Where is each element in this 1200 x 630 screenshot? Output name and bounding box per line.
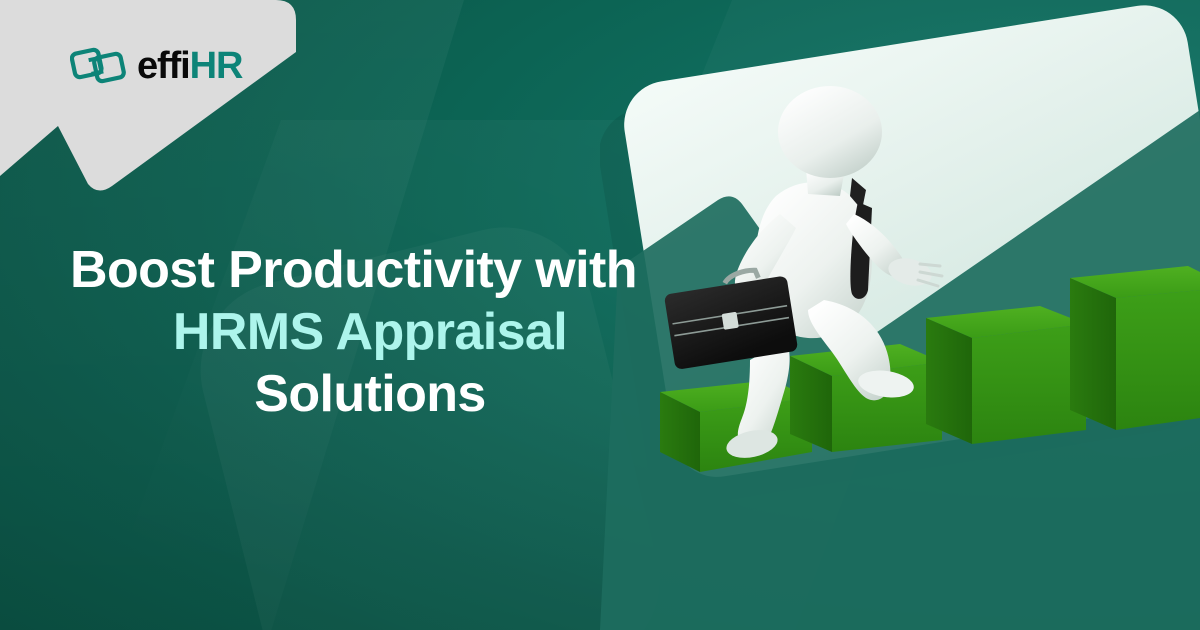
promo-banner: effiHR Boost Productivity with HRMS Appr… [0,0,1200,630]
effihr-logo-icon [70,42,126,90]
brand-word-primary: effi [137,45,190,87]
headline-line-1: Boost Productivity with [70,240,670,302]
brand-word-accent: HR [190,45,243,87]
illustration [600,0,1200,630]
brand-logo[interactable]: effiHR [70,42,242,90]
brand-wordmark: effiHR [137,47,242,85]
headline-line-2: HRMS Appraisal [70,302,670,364]
step-block-3 [926,306,1086,444]
headline-block: Boost Productivity with HRMS Appraisal S… [70,240,670,426]
headline-line-3: Solutions [70,364,670,426]
logo-badge-shape [0,0,296,191]
logo-badge [0,0,320,210]
figure-head [778,86,882,178]
step-block-4 [1070,266,1200,430]
briefcase-clasp [722,312,739,330]
